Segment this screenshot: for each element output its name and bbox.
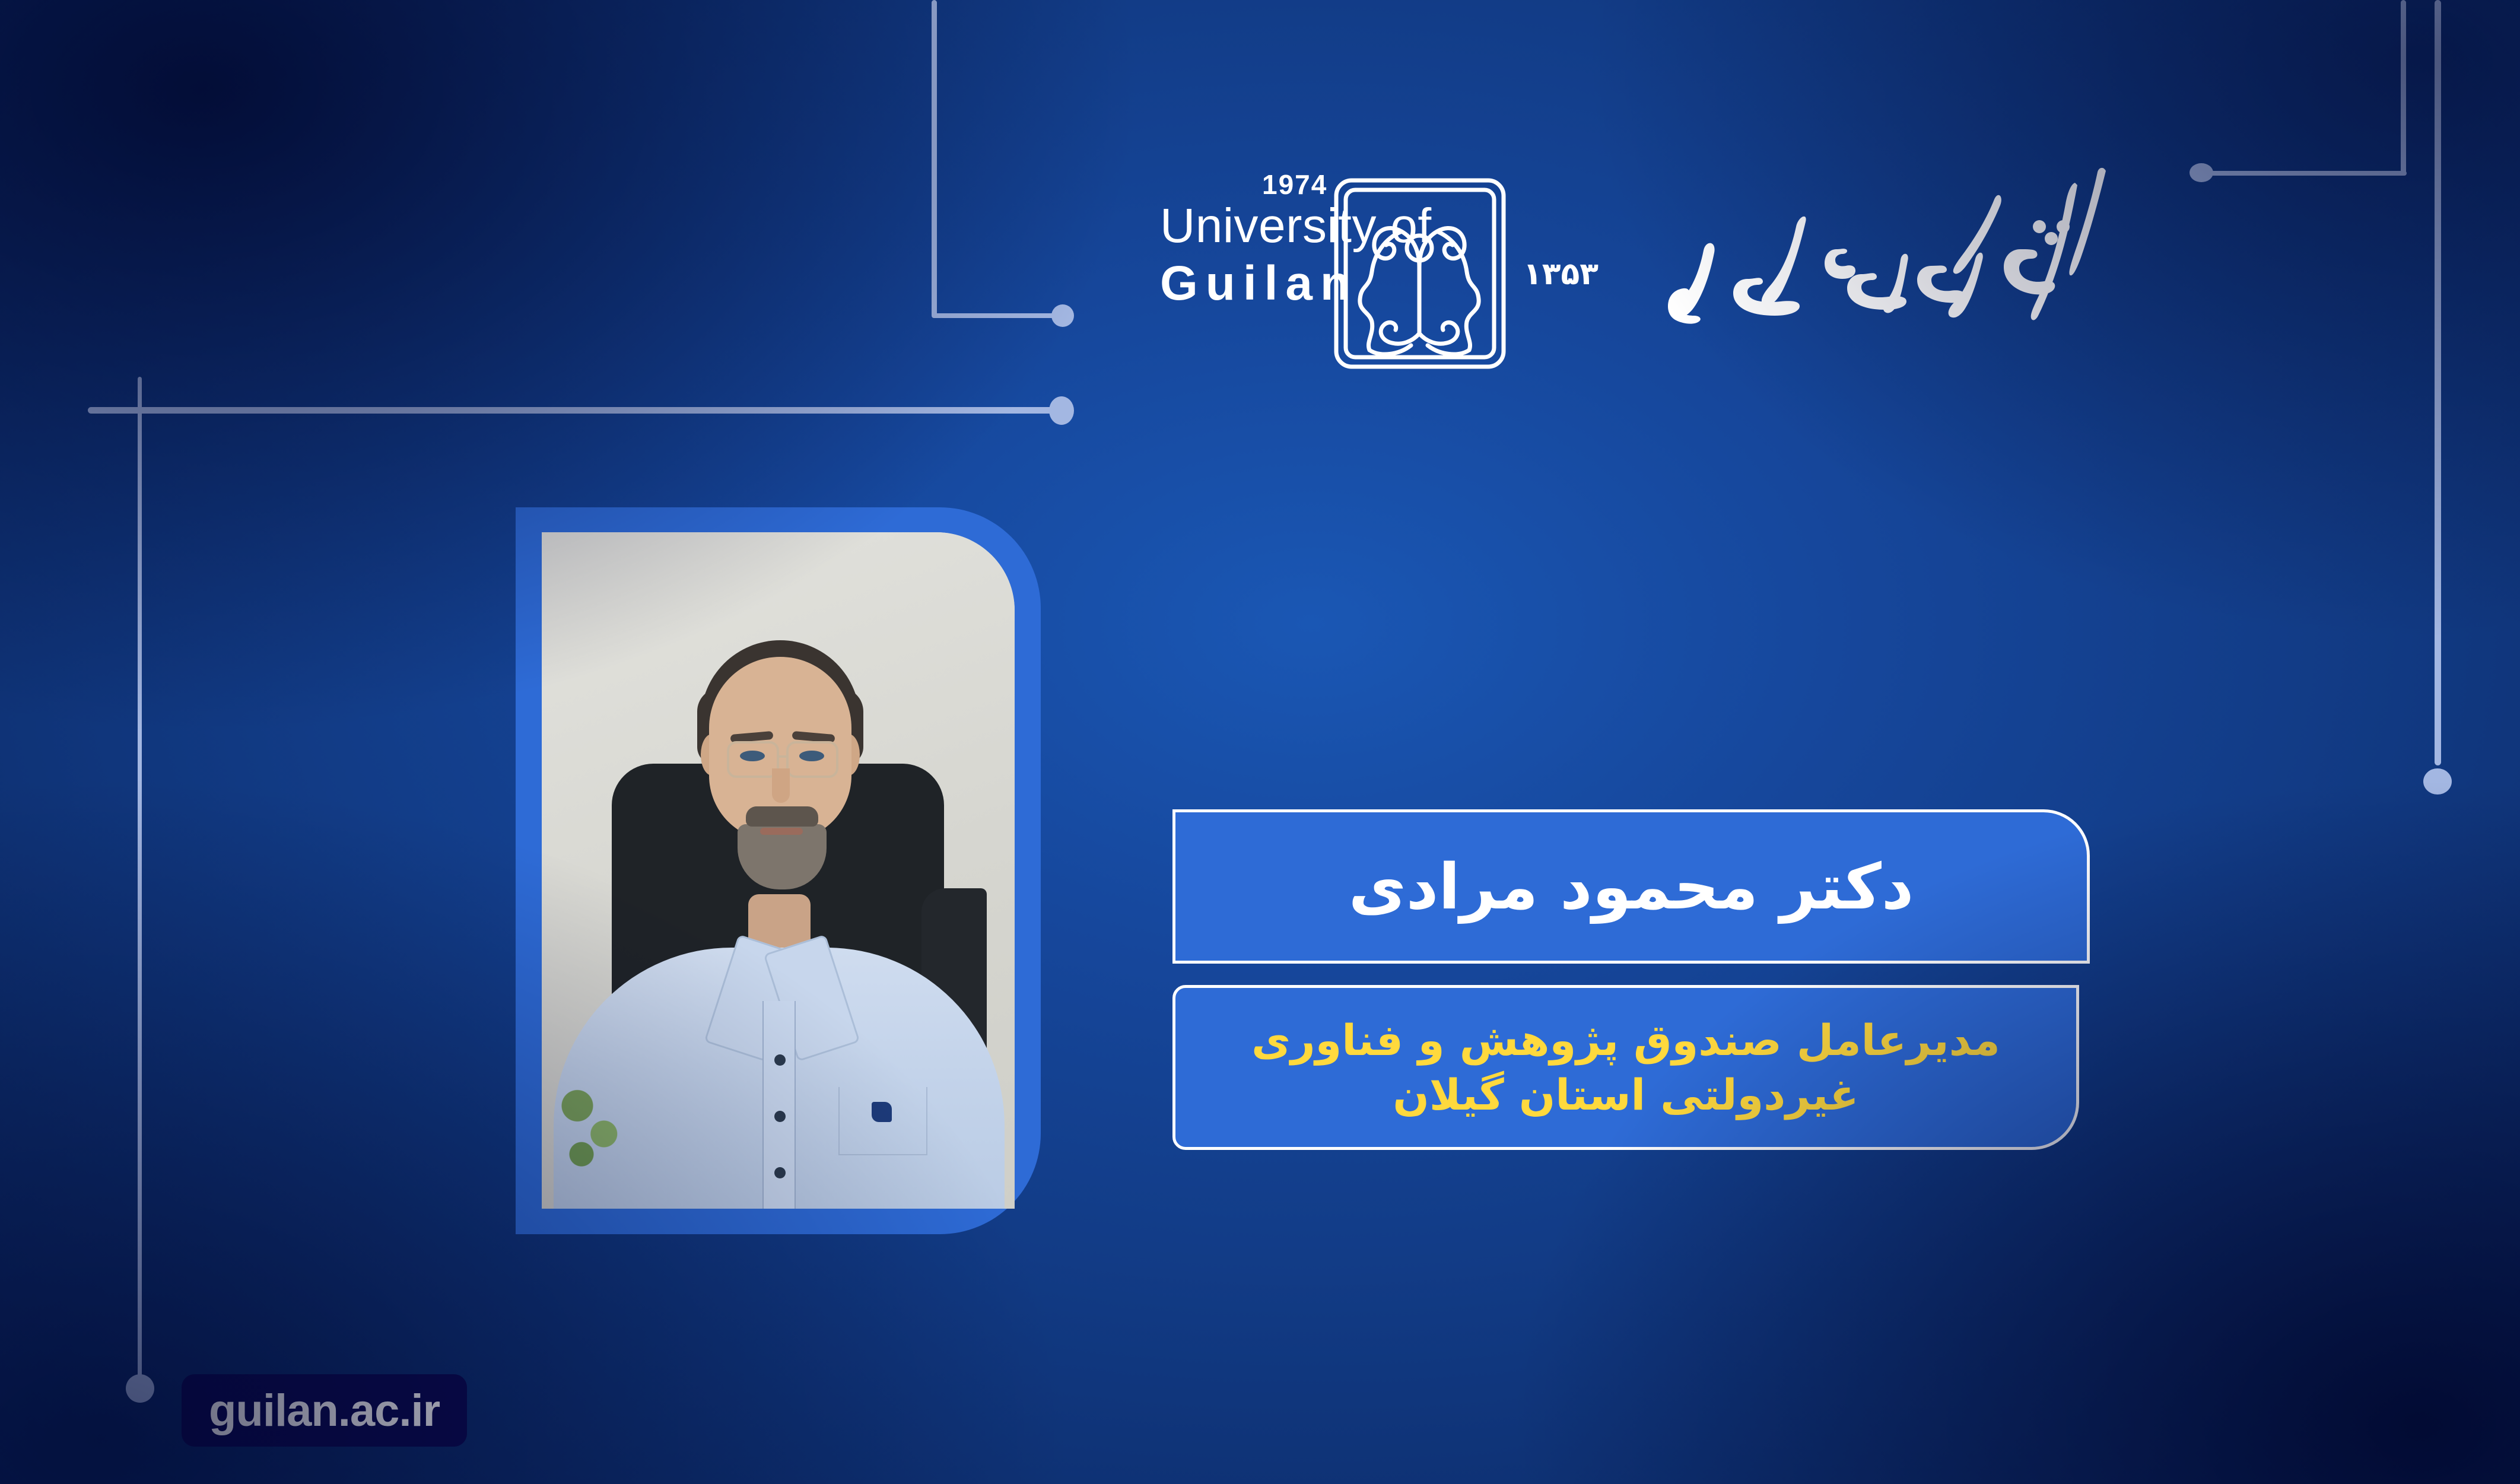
deco-dot-right-vertical-end: [2423, 768, 2452, 795]
speaker-name-badge: دکتر محمود مرادی: [1172, 809, 2090, 964]
deco-horizontal-top-center: [932, 313, 1059, 318]
website-url[interactable]: guilan.ac.ir: [209, 1385, 440, 1437]
speaker-name: دکتر محمود مرادی: [1349, 850, 1914, 923]
logo-year-solar: ۱۳۵۳: [1523, 256, 1599, 292]
deco-dot-left-line-end: [1049, 396, 1074, 425]
speaker-role: مدیرعامل صندوق پژوهش و فناوری غیردولتی ا…: [1175, 1013, 2076, 1122]
deco-horizontal-right: [2195, 171, 2407, 176]
portrait-frame: [516, 507, 1041, 1234]
logo-year-gregorian: 1974: [1262, 169, 1327, 201]
guilan-butterfly-emblem-icon: [1323, 172, 1516, 374]
deco-vertical-right-inner: [2401, 0, 2406, 175]
deco-vertical-left: [138, 377, 142, 1386]
deco-horizontal-left: [88, 407, 1061, 414]
deco-dot-left-vertical-end: [126, 1374, 154, 1403]
university-logo: 1974 University of Guilan ۱۳۵۳: [1160, 178, 2115, 374]
deco-vertical-top-center: [932, 0, 937, 317]
logo-name-persian-calligraphy: [1653, 160, 2115, 356]
poster-canvas: 1974 University of Guilan ۱۳۵۳: [0, 0, 2520, 1484]
deco-dot-top-center: [1051, 304, 1074, 327]
speaker-photo: [542, 532, 1015, 1209]
deco-vertical-right-outer: [2435, 0, 2441, 765]
website-pill[interactable]: guilan.ac.ir: [182, 1374, 467, 1447]
deco-dot-right: [2189, 163, 2213, 182]
speaker-role-badge: مدیرعامل صندوق پژوهش و فناوری غیردولتی ا…: [1172, 985, 2079, 1150]
